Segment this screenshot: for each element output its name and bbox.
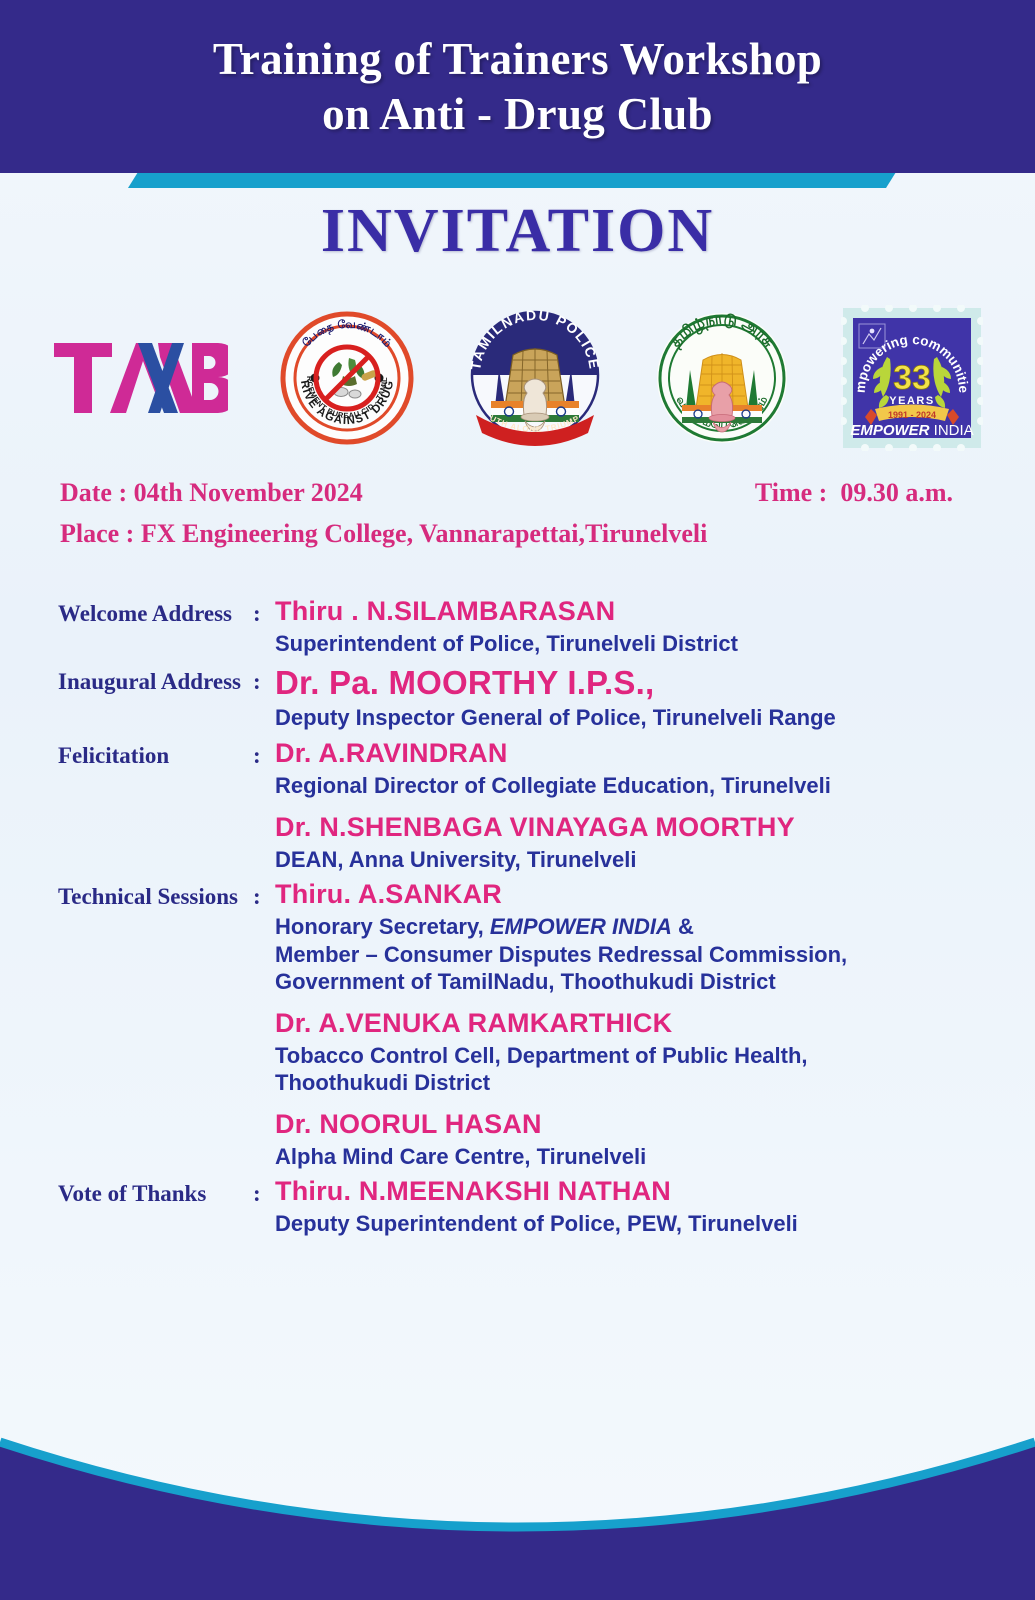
program-row-label: Felicitation xyxy=(58,738,253,769)
person-designation: DEAN, Anna University, Tirunelveli xyxy=(275,846,977,874)
designation-line: Tobacco Control Cell, Department of Publ… xyxy=(275,1042,977,1070)
designation-line: Superintendent of Police, Tirunelveli Di… xyxy=(275,630,977,658)
program-row: Inaugural Address:Dr. Pa. MOORTHY I.P.S.… xyxy=(58,664,977,732)
place-label: Place : xyxy=(60,519,134,548)
program-row-label: Inaugural Address xyxy=(58,664,253,695)
government-of-tamilnadu-logo: தமிழ்நாடு அரசு வாய்மையே வெல்லும் xyxy=(654,310,790,446)
program-row: Technical Sessions:Thiru. A.SANKARHonora… xyxy=(58,879,977,1170)
person-name: Dr. N.SHENBAGA VINAYAGA MOORTHY xyxy=(275,812,977,843)
svg-text:EMPOWER INDIA: EMPOWER INDIA xyxy=(850,422,973,439)
person-name: Dr. Pa. MOORTHY I.P.S., xyxy=(275,664,977,702)
program-person: Dr. N.SHENBAGA VINAYAGA MOORTHYDEAN, Ann… xyxy=(275,812,977,874)
program-person: Dr. Pa. MOORTHY I.P.S.,Deputy Inspector … xyxy=(275,664,977,732)
designation-line: Thoothukudi District xyxy=(275,1069,977,1097)
event-time: Time : 09.30 a.m. xyxy=(755,478,975,508)
tmb-logo xyxy=(52,339,228,417)
person-designation: Tobacco Control Cell, Department of Publ… xyxy=(275,1042,977,1097)
program-row-body: Thiru. A.SANKARHonorary Secretary, EMPOW… xyxy=(275,879,977,1170)
program-row-colon: : xyxy=(253,664,275,695)
person-name: Thiru . N.SILAMBARASAN xyxy=(275,596,977,627)
program-list: Welcome Address:Thiru . N.SILAMBARASANSu… xyxy=(0,596,1035,1244)
person-designation: Deputy Superintendent of Police, PEW, Ti… xyxy=(275,1210,977,1238)
person-name: Thiru. A.SANKAR xyxy=(275,879,977,910)
person-name: Dr. A.VENUKA RAMKARTHICK xyxy=(275,1008,977,1039)
person-designation: Honorary Secretary, EMPOWER INDIA &Membe… xyxy=(275,913,977,996)
designation-line: DEAN, Anna University, Tirunelveli xyxy=(275,846,977,874)
date-label: Date : xyxy=(60,478,127,507)
designation-line: Regional Director of Collegiate Educatio… xyxy=(275,772,977,800)
program-row: Welcome Address:Thiru . N.SILAMBARASANSu… xyxy=(58,596,977,658)
svg-text:33: 33 xyxy=(893,359,931,397)
time-value: 09.30 a.m. xyxy=(840,478,953,507)
tamilnadu-police-icon: TAMILNADU POLICE xyxy=(466,307,604,449)
designation-line: Deputy Superintendent of Police, PEW, Ti… xyxy=(275,1210,977,1238)
invitation-heading: INVITATION xyxy=(0,196,1035,267)
program-row-label: Welcome Address xyxy=(58,596,253,627)
person-designation: Regional Director of Collegiate Educatio… xyxy=(275,772,977,800)
person-designation: Alpha Mind Care Centre, Tirunelveli xyxy=(275,1143,977,1171)
person-name: Thiru. N.MEENAKSHI NATHAN xyxy=(275,1176,977,1207)
empower-india-stamp-icon: empowering communities 33 YEARS xyxy=(841,305,983,451)
drive-against-drugs-icon: பேதை வேண்டாம் DRIVE AGAINST DRUGS ENFORC… xyxy=(279,310,415,446)
drive-against-drugs-logo: பேதை வேண்டாம் DRIVE AGAINST DRUGS ENFORC… xyxy=(279,310,415,446)
place-value: FX Engineering College, Vannarapettai,Ti… xyxy=(141,519,707,548)
program-row-colon: : xyxy=(253,879,275,910)
program-row-body: Thiru. N.MEENAKSHI NATHANDeputy Superint… xyxy=(275,1176,977,1238)
designation-line: Alpha Mind Care Centre, Tirunelveli xyxy=(275,1143,977,1171)
program-person: Dr. NOORUL HASANAlpha Mind Care Centre, … xyxy=(275,1109,977,1171)
event-meta: Date : 04th November 2024 Time : 09.30 a… xyxy=(0,478,1035,549)
person-designation: Superintendent of Police, Tirunelveli Di… xyxy=(275,630,977,658)
program-person: Dr. A.VENUKA RAMKARTHICKTobacco Control … xyxy=(275,1008,977,1097)
footer-curve xyxy=(0,1420,1035,1600)
event-date: Date : 04th November 2024 xyxy=(60,478,363,508)
program-person: Dr. A.RAVINDRANRegional Director of Coll… xyxy=(275,738,977,800)
program-row-body: Thiru . N.SILAMBARASANSuperintendent of … xyxy=(275,596,977,658)
program-row-body: Dr. Pa. MOORTHY I.P.S.,Deputy Inspector … xyxy=(275,664,977,732)
program-row: Felicitation:Dr. A.RAVINDRANRegional Dir… xyxy=(58,738,977,873)
tmb-logo-icon xyxy=(52,339,228,417)
person-name: Dr. NOORUL HASAN xyxy=(275,1109,977,1140)
program-row: Vote of Thanks:Thiru. N.MEENAKSHI NATHAN… xyxy=(58,1176,977,1238)
program-person: Thiru . N.SILAMBARASANSuperintendent of … xyxy=(275,596,977,658)
person-name: Dr. A.RAVINDRAN xyxy=(275,738,977,769)
government-of-tamilnadu-icon: தமிழ்நாடு அரசு வாய்மையே வெல்லும் xyxy=(654,310,790,446)
svg-text:1991 - 2024: 1991 - 2024 xyxy=(888,410,936,420)
program-row-label: Technical Sessions xyxy=(58,879,253,910)
logo-row: பேதை வேண்டாம் DRIVE AGAINST DRUGS ENFORC… xyxy=(0,296,1035,460)
page-title: Training of Trainers Workshop on Anti - … xyxy=(213,32,822,142)
event-place: Place : FX Engineering College, Vannarap… xyxy=(60,519,975,549)
header-teal-accent-bar xyxy=(128,172,896,188)
designation-line: Honorary Secretary, EMPOWER INDIA & xyxy=(275,913,977,941)
program-row-colon: : xyxy=(253,738,275,769)
empower-india-stamp-logo: empowering communities 33 YEARS xyxy=(841,305,983,451)
header-band: Training of Trainers Workshop on Anti - … xyxy=(0,0,1035,173)
designation-line: Government of TamilNadu, Thoothukudi Dis… xyxy=(275,968,977,996)
designation-line: Member – Consumer Disputes Redressal Com… xyxy=(275,941,977,969)
program-person: Thiru. A.SANKARHonorary Secretary, EMPOW… xyxy=(275,879,977,996)
date-value: 04th November 2024 xyxy=(134,478,363,507)
designation-line: Deputy Inspector General of Police, Tiru… xyxy=(275,704,977,732)
program-row-label: Vote of Thanks xyxy=(58,1176,253,1207)
tamilnadu-police-logo: TAMILNADU POLICE xyxy=(466,307,604,449)
person-designation: Deputy Inspector General of Police, Tiru… xyxy=(275,704,977,732)
program-person: Thiru. N.MEENAKSHI NATHANDeputy Superint… xyxy=(275,1176,977,1238)
invitation-poster: Training of Trainers Workshop on Anti - … xyxy=(0,0,1035,1600)
program-row-colon: : xyxy=(253,596,275,627)
program-row-body: Dr. A.RAVINDRANRegional Director of Coll… xyxy=(275,738,977,873)
footer-curve-shape xyxy=(0,1420,1035,1600)
time-label: Time : xyxy=(755,478,827,507)
program-row-colon: : xyxy=(253,1176,275,1207)
